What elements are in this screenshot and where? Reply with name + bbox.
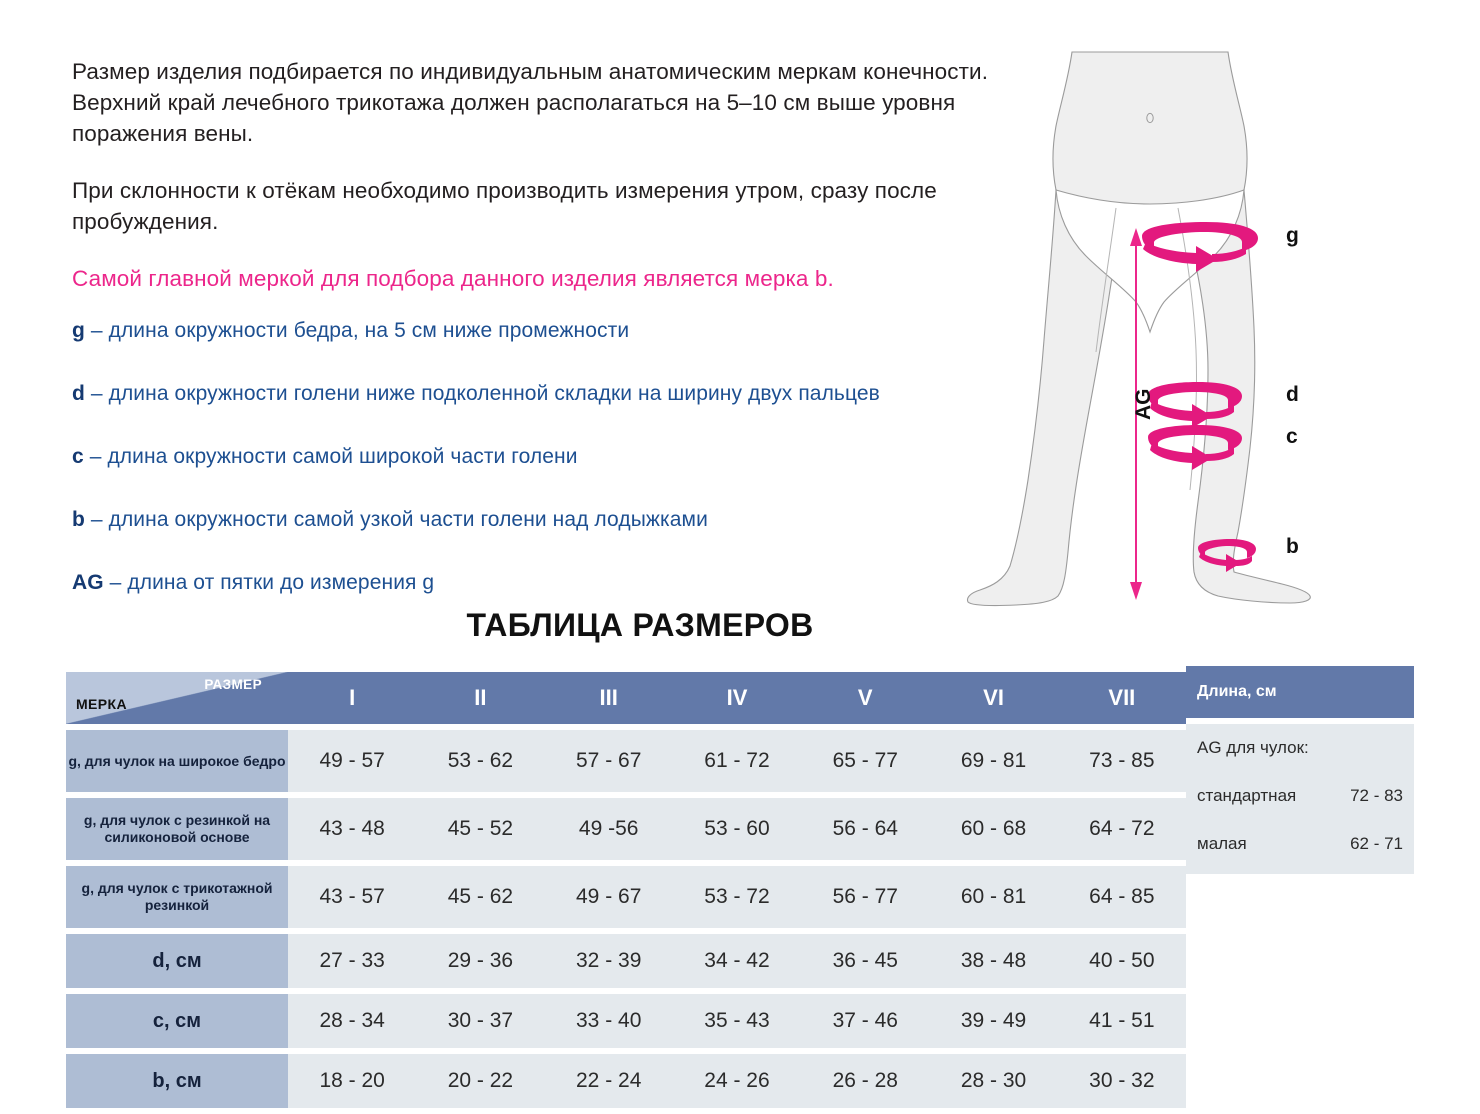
table-row: g, для чулок с трикотажной резинкой 43 -…	[66, 866, 1186, 928]
size-table: РАЗМЕР МЕРКА I II III IV V VI VII g, для…	[66, 666, 1186, 1114]
highlight-note: Самой главной меркой для подбора данного…	[72, 263, 992, 294]
row-label-g-silicone: g, для чулок с резинкой на силиконовой о…	[66, 798, 288, 860]
cell-r1-c0: 43 - 48	[288, 798, 416, 860]
length-name-standard: стандартная	[1197, 786, 1296, 806]
table-row: c, см 28 - 34 30 - 37 33 - 40 35 - 43 37…	[66, 994, 1186, 1048]
row-label-c: c, см	[66, 994, 288, 1048]
cell-r3-c2: 32 - 39	[545, 934, 673, 988]
cell-r1-c2: 49 -56	[545, 798, 673, 860]
cell-r1-c5: 60 - 68	[929, 798, 1057, 860]
definition-d: d – длина окружности голени ниже подколе…	[72, 381, 1072, 407]
definition-key-g: g	[72, 319, 85, 342]
length-value-standard: 72 - 83	[1350, 786, 1403, 806]
cell-r5-c0: 18 - 20	[288, 1054, 416, 1108]
row-label-g-knit: g, для чулок с трикотажной резинкой	[66, 866, 288, 928]
definition-text-ag: длина от пятки до измерения g	[127, 571, 434, 594]
cell-r3-c6: 40 - 50	[1058, 934, 1186, 988]
torso-shape	[1053, 52, 1247, 210]
cell-r2-c6: 64 - 85	[1058, 866, 1186, 928]
cell-r4-c4: 37 - 46	[801, 994, 929, 1048]
cell-r5-c2: 22 - 24	[545, 1054, 673, 1108]
column-header-6: VI	[929, 672, 1057, 724]
definition-dash-b: –	[91, 508, 103, 531]
intro-paragraph-2: При склонности к отёкам необходимо произ…	[72, 175, 992, 237]
cell-r4-c0: 28 - 34	[288, 994, 416, 1048]
length-panel-body: AG для чулок: стандартная 72 - 83 малая …	[1186, 724, 1414, 874]
cell-r2-c5: 60 - 81	[929, 866, 1057, 928]
measurement-definitions: g – длина окружности бедра, на 5 см ниже…	[72, 318, 1072, 633]
figure-label-b: b	[1286, 535, 1299, 559]
table-row: d, см 27 - 33 29 - 36 32 - 39 34 - 42 36…	[66, 934, 1186, 988]
length-row-small: малая 62 - 71	[1197, 834, 1403, 854]
definition-text-d: длина окружности голени ниже подколенной…	[109, 382, 880, 405]
intro-paragraph-1: Размер изделия подбирается по индивидуал…	[72, 56, 992, 149]
cell-r4-c2: 33 - 40	[545, 994, 673, 1048]
cell-r2-c2: 49 - 67	[545, 866, 673, 928]
cell-r1-c4: 56 - 64	[801, 798, 929, 860]
length-name-small: малая	[1197, 834, 1247, 854]
length-panel: Длина, см AG для чулок: стандартная 72 -…	[1186, 666, 1414, 874]
cell-r0-c4: 65 - 77	[801, 730, 929, 792]
column-header-1: I	[288, 672, 416, 724]
row-label-d: d, см	[66, 934, 288, 988]
cell-r0-c2: 57 - 67	[545, 730, 673, 792]
table-title: ТАБЛИЦА РАЗМЕРОВ	[0, 607, 1480, 644]
definition-text-b: длина окружности самой узкой части голен…	[109, 508, 708, 531]
cell-r0-c1: 53 - 62	[416, 730, 544, 792]
cell-r1-c1: 45 - 52	[416, 798, 544, 860]
cell-r2-c1: 45 - 62	[416, 866, 544, 928]
definition-key-ag: AG	[72, 571, 104, 594]
cell-r0-c0: 49 - 57	[288, 730, 416, 792]
definition-g: g – длина окружности бедра, на 5 см ниже…	[72, 318, 1072, 344]
definition-dash-ag: –	[110, 571, 122, 594]
cell-r5-c5: 28 - 30	[929, 1054, 1057, 1108]
definition-key-c: c	[72, 445, 84, 468]
cell-r2-c4: 56 - 77	[801, 866, 929, 928]
cell-r1-c3: 53 - 60	[673, 798, 801, 860]
column-header-5: V	[801, 672, 929, 724]
cell-r3-c4: 36 - 45	[801, 934, 929, 988]
cell-r0-c3: 61 - 72	[673, 730, 801, 792]
cell-r5-c4: 26 - 28	[801, 1054, 929, 1108]
cell-r5-c6: 30 - 32	[1058, 1054, 1186, 1108]
cell-r3-c0: 27 - 33	[288, 934, 416, 988]
definition-b: b – длина окружности самой узкой части г…	[72, 507, 1072, 533]
cell-r4-c6: 41 - 51	[1058, 994, 1186, 1048]
size-guide-page: Размер изделия подбирается по индивидуал…	[0, 0, 1480, 1053]
figure-label-ag: AG	[1132, 389, 1156, 421]
definition-dash-d: –	[91, 382, 103, 405]
length-value-small: 62 - 71	[1350, 834, 1403, 854]
cell-r3-c5: 38 - 48	[929, 934, 1057, 988]
cell-r2-c3: 53 - 72	[673, 866, 801, 928]
cell-r1-c6: 64 - 72	[1058, 798, 1186, 860]
definition-c: c – длина окружности самой широкой части…	[72, 444, 1072, 470]
body-silhouette	[968, 52, 1311, 606]
table-row: b, см 18 - 20 20 - 22 22 - 24 24 - 26 26…	[66, 1054, 1186, 1108]
cell-r4-c1: 30 - 37	[416, 994, 544, 1048]
cell-r3-c1: 29 - 36	[416, 934, 544, 988]
intro-text-block: Размер изделия подбирается по индивидуал…	[72, 56, 992, 322]
length-row-standard: стандартная 72 - 83	[1197, 786, 1403, 806]
column-header-3: III	[545, 672, 673, 724]
corner-size-label: РАЗМЕР	[204, 677, 262, 692]
cell-r4-c3: 35 - 43	[673, 994, 801, 1048]
definition-text-g: длина окружности бедра, на 5 см ниже про…	[109, 319, 630, 342]
cell-r3-c3: 34 - 42	[673, 934, 801, 988]
definition-key-d: d	[72, 382, 85, 405]
cell-r2-c0: 43 - 57	[288, 866, 416, 928]
header-corner-cell: РАЗМЕР МЕРКА	[66, 672, 288, 724]
definition-dash-g: –	[91, 319, 103, 342]
cell-r0-c5: 69 - 81	[929, 730, 1057, 792]
cell-r4-c5: 39 - 49	[929, 994, 1057, 1048]
figure-label-c: c	[1286, 425, 1298, 449]
corner-measure-label: МЕРКА	[76, 696, 127, 712]
definition-ag: AG – длина от пятки до измерения g	[72, 570, 1072, 596]
length-panel-title: AG для чулок:	[1197, 738, 1403, 758]
table-row: g, для чулок на широкое бедро 49 - 57 53…	[66, 730, 1186, 792]
column-header-2: II	[416, 672, 544, 724]
table-row: g, для чулок с резинкой на силиконовой о…	[66, 798, 1186, 860]
length-panel-header: Длина, см	[1186, 666, 1414, 718]
cell-r5-c1: 20 - 22	[416, 1054, 544, 1108]
cell-r5-c3: 24 - 26	[673, 1054, 801, 1108]
row-label-g-wide-thigh: g, для чулок на широкое бедро	[66, 730, 288, 792]
legs-figure-svg	[960, 40, 1380, 620]
figure-label-g: g	[1286, 224, 1299, 248]
definition-key-b: b	[72, 508, 85, 531]
table-header-row: РАЗМЕР МЕРКА I II III IV V VI VII	[66, 672, 1186, 724]
definition-text-c: длина окружности самой широкой части гол…	[107, 445, 577, 468]
column-header-7: VII	[1058, 672, 1186, 724]
definition-dash-c: –	[90, 445, 102, 468]
cell-r0-c6: 73 - 85	[1058, 730, 1186, 792]
row-label-b: b, см	[66, 1054, 288, 1108]
figure-label-d: d	[1286, 383, 1299, 407]
column-header-4: IV	[673, 672, 801, 724]
leg-measurement-illustration: g d c b AG	[960, 40, 1380, 620]
